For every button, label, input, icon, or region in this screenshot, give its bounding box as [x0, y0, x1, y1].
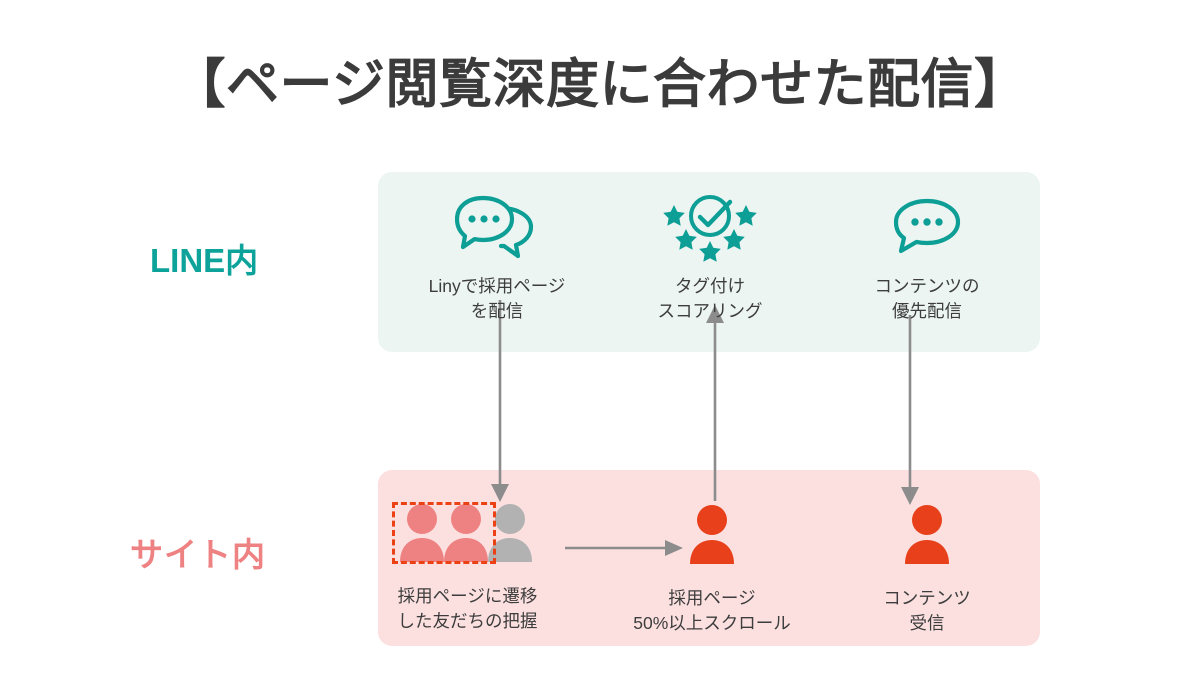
diagram-canvas: 【ページ閲覧深度に合わせた配信】 LINE内 サイト内	[0, 0, 1200, 700]
people-group-selected-icon	[360, 500, 575, 574]
line-cell-1-caption: Linyで採用ページ を配信	[392, 274, 602, 325]
site-cell-3: コンテンツ 受信	[822, 500, 1032, 637]
site-cell-1: 採用ページに遷移 した友だちの把握	[360, 500, 575, 635]
page-title: 【ページ閲覧深度に合わせた配信】	[0, 42, 1200, 118]
person-icon	[607, 500, 817, 574]
arrow-line3-to-site3	[890, 315, 930, 511]
arrow-line1-to-site1	[480, 300, 520, 510]
row-label-line: LINE内	[150, 234, 258, 282]
line-cell-3: コンテンツの 優先配信	[822, 190, 1032, 325]
site-cell-3-caption: コンテンツ 受信	[822, 586, 1032, 637]
person-icon	[822, 500, 1032, 574]
line-cell-2-caption: タグ付け スコアリング	[605, 274, 815, 325]
row-label-site: サイト内	[130, 528, 266, 576]
speech-bubble-icon	[822, 190, 1032, 264]
line-cell-1: Linyで採用ページ を配信	[392, 190, 602, 325]
line-cell-3-caption: コンテンツの 優先配信	[822, 274, 1032, 325]
site-cell-2: 採用ページ 50%以上スクロール	[607, 500, 817, 637]
line-cell-2: タグ付け スコアリング	[605, 190, 815, 325]
arrow-site2-to-line2	[695, 305, 735, 505]
site-cell-1-caption: 採用ページに遷移 した友だちの把握	[360, 584, 575, 635]
selection-dashed-box	[392, 502, 496, 564]
check-circle-stars-icon	[605, 190, 815, 264]
site-cell-2-caption: 採用ページ 50%以上スクロール	[607, 586, 817, 637]
double-speech-bubble-icon	[392, 190, 602, 264]
